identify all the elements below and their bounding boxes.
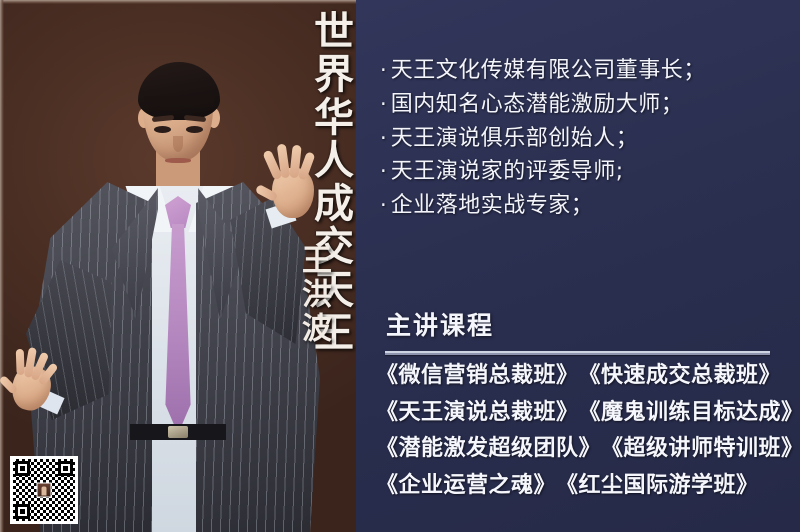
course-row: 《企业运营之魂》 《红尘国际游学班》 — [376, 470, 800, 503]
course-title: 《微信营销总裁班》 — [376, 360, 579, 393]
belt — [130, 424, 226, 440]
course-title: 《魔鬼训练目标达成》 — [579, 397, 800, 430]
course-title: 《红尘国际游学班》 — [556, 470, 759, 503]
course-title: 《超级讲师特训班》 — [601, 433, 800, 466]
qr-finder-top-right — [58, 461, 73, 476]
course-title: 《潜能激发超级团队》 — [376, 433, 601, 466]
info-panel: · 天王文化传媒有限公司董事长； · 国内知名心态潜能激励大师； · 天王演说俱… — [356, 0, 800, 532]
list-item: · 天王演说俱乐部创始人； — [380, 126, 800, 153]
panel-top-edge — [0, 0, 356, 4]
portrait-panel: 世界华人成交天王 王洪波 — [0, 0, 356, 532]
course-row: 《天王演说总裁班》 《魔鬼训练目标达成》 — [376, 397, 800, 430]
credential-text: 企业落地实战专家； — [391, 193, 594, 220]
course-row: 《潜能激发超级团队》 《超级讲师特训班》 — [376, 433, 800, 466]
eye-left — [154, 126, 171, 133]
list-item: · 国内知名心态潜能激励大师； — [380, 92, 800, 119]
qr-pattern — [13, 459, 75, 521]
eye-right — [186, 126, 203, 133]
hair — [138, 62, 220, 120]
credential-text: 天王演说家的评委导师; — [391, 159, 624, 186]
course-title: 《企业运营之魂》 — [376, 470, 556, 503]
course-list: 《微信营销总裁班》 《快速成交总裁班》 《天王演说总裁班》 《魔鬼训练目标达成》… — [376, 360, 800, 506]
bullet-icon: · — [380, 195, 387, 216]
credential-text: 天王文化传媒有限公司董事长； — [391, 58, 706, 85]
course-title: 《天王演说总裁班》 — [376, 397, 579, 430]
courses-section-title: 主讲课程 — [386, 306, 494, 342]
section-divider — [385, 351, 770, 355]
qr-center-logo — [37, 483, 52, 498]
qr-code[interactable] — [10, 456, 78, 524]
list-item: · 企业落地实战专家； — [380, 193, 800, 220]
credentials-list: · 天王文化传媒有限公司董事长； · 国内知名心态潜能激励大师； · 天王演说俱… — [380, 58, 800, 227]
bullet-icon: · — [380, 161, 387, 182]
course-title: 《快速成交总裁班》 — [579, 360, 782, 393]
course-row: 《微信营销总裁班》 《快速成交总裁班》 — [376, 360, 800, 393]
credential-text: 天王演说俱乐部创始人； — [391, 126, 639, 153]
promo-poster: 世界华人成交天王 王洪波 · 天王文化传媒有限公司董事长； · 国内知名心态潜能… — [0, 0, 800, 532]
bullet-icon: · — [380, 60, 387, 81]
credential-text: 国内知名心态潜能激励大师； — [391, 92, 684, 119]
bullet-icon: · — [380, 128, 387, 149]
qr-finder-bottom-left — [15, 504, 30, 519]
bullet-icon: · — [380, 94, 387, 115]
speaker-name: 王洪波 — [285, 244, 329, 346]
qr-finder-top-left — [15, 461, 30, 476]
panel-left-edge — [0, 0, 4, 532]
list-item: · 天王文化传媒有限公司董事长； — [380, 58, 800, 85]
list-item: · 天王演说家的评委导师; — [380, 159, 800, 186]
mouth — [165, 158, 191, 163]
nose — [173, 136, 183, 152]
